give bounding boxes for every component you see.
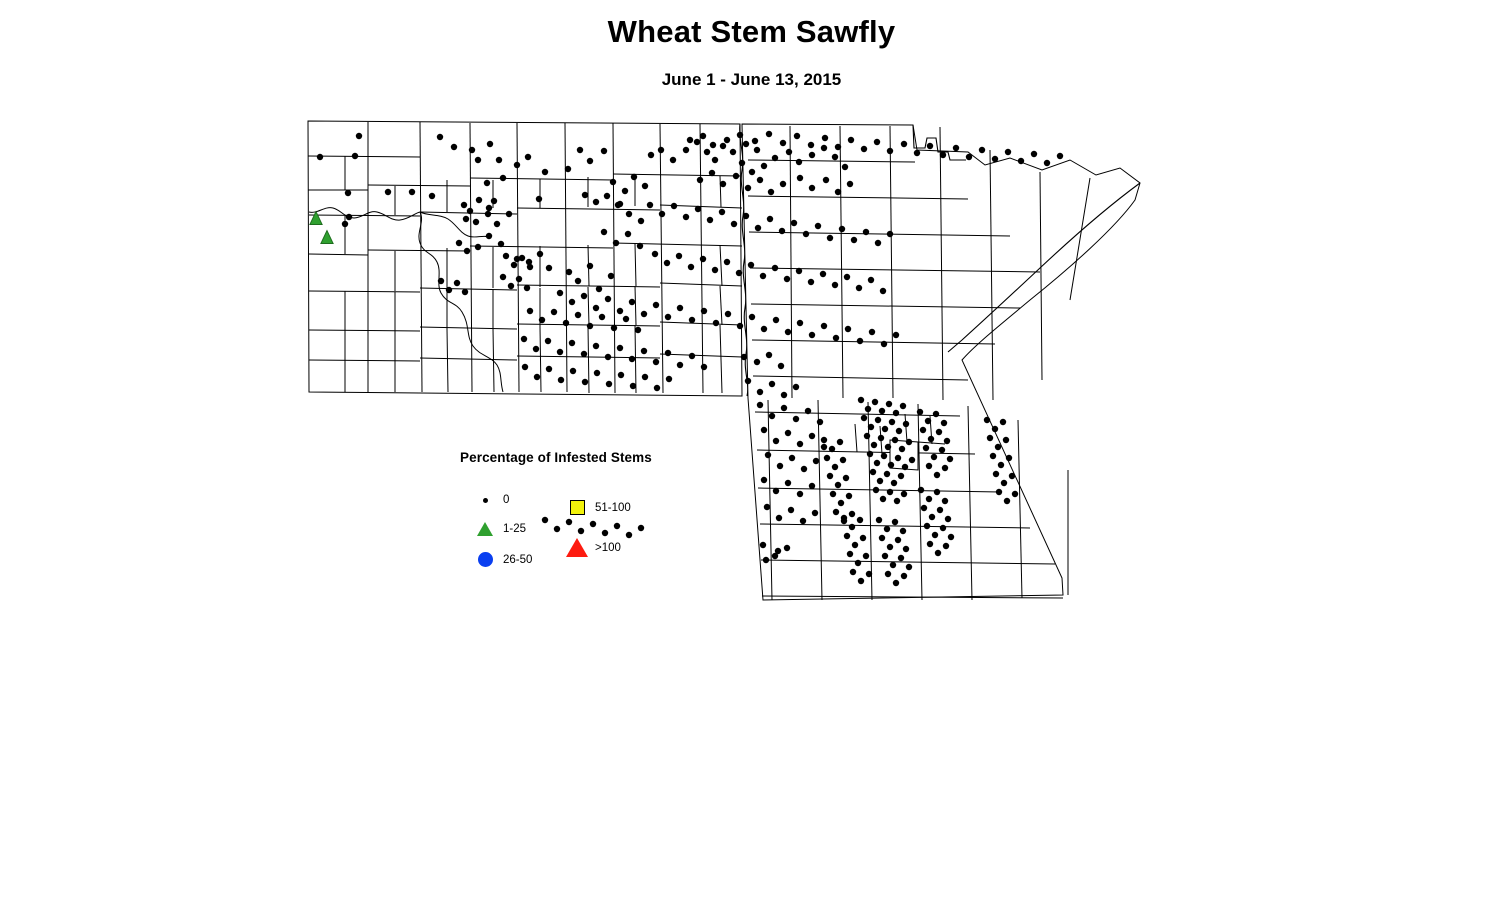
sample-point [683,147,689,153]
sample-point [871,442,877,448]
sample-point [944,438,950,444]
map-page: Wheat Stem Sawfly June 1 - June 13, 2015 [0,0,1503,900]
sample-point [898,555,904,561]
sample-point [942,465,948,471]
sample-point [886,401,892,407]
sample-point [925,418,931,424]
sample-point [1005,149,1011,155]
sample-point [861,146,867,152]
legend-title: Percentage of Infested Stems [460,450,652,465]
sample-point [720,143,726,149]
sample-point [992,156,998,162]
sample-point [754,359,760,365]
sample-point [587,263,593,269]
sample-point [860,535,866,541]
sample-point [893,580,899,586]
sample-point [654,385,660,391]
sample-point [926,463,932,469]
sample-point [824,455,830,461]
sample-point [1001,480,1007,486]
sample-point [868,424,874,430]
sample-point [773,438,779,444]
sample-point [903,421,909,427]
sample-point [797,491,803,497]
sample-point [625,231,631,237]
sample-point [665,314,671,320]
sample-point [622,188,628,194]
sample-point [485,211,491,217]
sample-point [896,428,902,434]
sample-point [527,308,533,314]
sample-point [867,451,873,457]
sample-point [1012,491,1018,497]
sample-point [863,553,869,559]
sample-point [486,205,492,211]
sample-point [545,338,551,344]
sample-point [901,573,907,579]
sample-point [902,464,908,470]
sample-point [927,143,933,149]
sample-point [934,489,940,495]
sample-point [940,152,946,158]
sample-point [772,155,778,161]
sample-point [901,491,907,497]
sample-point [700,133,706,139]
sample-point [743,141,749,147]
sample-point [720,181,726,187]
sample-point [847,181,853,187]
sample-point [1004,498,1010,504]
sample-point [514,162,520,168]
sample-point [945,516,951,522]
sample-point [943,543,949,549]
sample-point [773,317,779,323]
sample-point [947,456,953,462]
sample-point [666,376,672,382]
sample-point [689,353,695,359]
sample-point [494,221,500,227]
legend: Percentage of Infested Stems 0 1-25 26-5… [455,446,715,586]
sample-point [710,142,716,148]
sample-point [683,214,689,220]
sample-point [601,148,607,154]
sample-point [575,312,581,318]
sample-point [475,157,481,163]
sample-point [496,157,502,163]
sample-point [587,158,593,164]
sample-point [608,273,614,279]
sample-point [652,251,658,257]
sample-point [761,163,767,169]
sample-point [704,149,710,155]
sample-point [786,149,792,155]
sample-point [741,354,747,360]
sample-point [730,149,736,155]
sample-point [743,213,749,219]
sample-point [858,578,864,584]
sample-point [797,175,803,181]
legend-item-over-100: >100 [565,538,621,557]
sample-point [808,279,814,285]
sample-point [629,299,635,305]
sample-point [914,150,920,156]
sample-point [641,311,647,317]
sample-point [934,472,940,478]
sample-point [506,211,512,217]
sample-point [464,248,470,254]
sample-point [1006,455,1012,461]
sample-point [653,302,659,308]
sample-point [473,219,479,225]
sample-point [760,542,766,548]
sample-point [987,435,993,441]
sample-point [815,223,821,229]
sample-point [724,259,730,265]
sample-point [769,413,775,419]
sample-point [641,348,647,354]
sample-point [581,351,587,357]
sample-point [737,323,743,329]
sample-point [857,338,863,344]
sample-point [766,131,772,137]
sample-point [809,152,815,158]
sample-point [664,260,670,266]
sample-point [356,133,362,139]
sample-point [829,446,835,452]
sample-point [936,429,942,435]
sample-point [593,305,599,311]
sample-point [601,229,607,235]
sample-point [638,218,644,224]
sample-point [881,341,887,347]
sample-point [1018,158,1024,164]
sample-point [885,444,891,450]
legend-item-51-100: 51-100 [565,500,631,515]
sample-point [848,137,854,143]
sample-point [935,550,941,556]
legend-label-26-50: 26-50 [503,554,532,566]
sample-point [745,378,751,384]
sample-point [604,193,610,199]
sample-point [966,154,972,160]
sample-point [670,157,676,163]
sample-point [821,323,827,329]
sample-point [581,293,587,299]
legend-label-51-100: 51-100 [595,502,631,514]
sample-point [610,179,616,185]
sample-point [803,231,809,237]
sample-point [781,405,787,411]
sample-point [788,507,794,513]
red-triangle-icon [565,538,589,557]
sample-point [903,546,909,552]
sample-point [812,510,818,516]
sample-point [694,139,700,145]
sample-point [940,525,946,531]
sample-point [845,326,851,332]
sample-point [534,374,540,380]
sample-point [789,455,795,461]
sample-point [565,166,571,172]
sample-point [813,458,819,464]
sample-point [855,560,861,566]
sample-point [924,523,930,529]
sample-point [1003,437,1009,443]
sample-point [879,408,885,414]
sample-point [769,381,775,387]
sample-point [1044,160,1050,166]
sample-point [891,480,897,486]
sample-point [539,317,545,323]
sample-point [725,311,731,317]
sample-point [948,534,954,540]
sample-point [875,417,881,423]
sample-point [833,335,839,341]
sample-point [884,526,890,532]
sample-point [895,455,901,461]
sample-point [712,267,718,273]
sample-point [345,190,351,196]
sample-point [894,498,900,504]
sample-point [500,274,506,280]
sample-point [909,457,915,463]
sample-point [800,518,806,524]
sample-point [688,264,694,270]
legend-item-0: 0 [473,494,509,506]
sample-point [875,240,881,246]
sample-point [605,354,611,360]
sample-point [797,441,803,447]
sample-point [546,366,552,372]
sample-point [942,498,948,504]
sample-point [599,314,605,320]
sample-point [937,507,943,513]
sample-point [817,419,823,425]
sample-point [809,185,815,191]
sample-point [843,475,849,481]
sample-point [733,173,739,179]
nd-mn-county-map [0,0,1503,900]
sample-point [822,135,828,141]
sample-point [820,271,826,277]
sample-point [821,145,827,151]
sample-point [613,240,619,246]
sample-point [780,181,786,187]
sample-point [615,202,621,208]
sample-point [841,518,847,524]
sample-point [835,189,841,195]
sample-point [456,240,462,246]
sample-point [611,325,617,331]
sample-point [832,154,838,160]
sample-point [918,487,924,493]
sample-point [689,317,695,323]
sample-point [737,132,743,138]
sample-point [701,364,707,370]
sample-point [617,345,623,351]
sample-point [900,528,906,534]
small-black-dot-icon [473,498,497,503]
sample-point [840,457,846,463]
sample-point [755,225,761,231]
sample-point [631,174,637,180]
sample-point [767,216,773,222]
sample-point [508,283,514,289]
sample-point [864,433,870,439]
sample-point [637,243,643,249]
sample-point [821,444,827,450]
sample-point [451,144,457,150]
sample-point [900,403,906,409]
sample-point [352,153,358,159]
sample-point [809,483,815,489]
sample-point [784,276,790,282]
sample-point [700,256,706,262]
sample-point [695,206,701,212]
sample-point [939,447,945,453]
sample-point [821,437,827,443]
sample-point [797,320,803,326]
sample-point [873,487,879,493]
sample-point [1000,419,1006,425]
sample-point [849,524,855,530]
sample-point [868,277,874,283]
sample-point [920,427,926,433]
sample-point [462,289,468,295]
sample-point [752,138,758,144]
sample-point [757,389,763,395]
sample-point [542,169,548,175]
sample-point [582,379,588,385]
sample-point [773,488,779,494]
sample-point [317,154,323,160]
sample-point [713,320,719,326]
sample-point [491,198,497,204]
sample-point [779,228,785,234]
sample-point [793,416,799,422]
sample-point [653,359,659,365]
sample-point [761,477,767,483]
sample-point [606,381,612,387]
sample-point [932,532,938,538]
sample-point [979,147,985,153]
sample-point [768,189,774,195]
sample-point [385,189,391,195]
sample-point [454,280,460,286]
sample-point [446,287,452,293]
sample-point [525,154,531,160]
sample-point [463,216,469,222]
sample-point [569,340,575,346]
legend-label-1-25: 1-25 [503,523,526,535]
sample-point [992,426,998,432]
sample-point [665,350,671,356]
sample-point [850,569,856,575]
sample-point [484,180,490,186]
sample-point [659,211,665,217]
sample-point [701,308,707,314]
sample-point [557,349,563,355]
sample-point [785,430,791,436]
sample-point [647,202,653,208]
sample-point [766,352,772,358]
sample-point [793,384,799,390]
sample-point [736,270,742,276]
sample-point [757,177,763,183]
sample-point [618,372,624,378]
sample-point [467,208,473,214]
sample-point [830,491,836,497]
sample-point [835,482,841,488]
sample-point [429,193,435,199]
sample-point [575,278,581,284]
sample-point [998,462,1004,468]
sample-point [885,571,891,577]
sample-point [677,362,683,368]
sample-point [928,436,934,442]
sample-point [760,273,766,279]
sample-point [866,571,872,577]
sample-point [409,189,415,195]
sample-point [809,332,815,338]
sample-point [990,453,996,459]
sample-point [887,231,893,237]
sample-point [805,408,811,414]
sample-point [923,445,929,451]
sample-point [536,196,542,202]
sample-point [724,137,730,143]
sample-point [676,253,682,259]
sample-point [893,410,899,416]
sample-point [808,142,814,148]
sample-point [761,427,767,433]
sample-point [557,290,563,296]
sample-point [858,397,864,403]
sample-point [835,144,841,150]
sample-point [995,444,1001,450]
sample-point [780,140,786,146]
sample-point [566,269,572,275]
sample-point [605,296,611,302]
sample-point [776,515,782,521]
sample-point [857,517,863,523]
sample-point [570,368,576,374]
sample-point [809,433,815,439]
sample-point [852,542,858,548]
sample-point [437,134,443,140]
legend-label-over-100: >100 [595,542,621,554]
sample-point [865,406,871,412]
sample-point [772,265,778,271]
sample-point [881,453,887,459]
sample-point [876,517,882,523]
sample-point [838,500,844,506]
sample-point [461,202,467,208]
sample-point [878,435,884,441]
sample-point [596,286,602,292]
sample-point [739,160,745,166]
sample-point [906,439,912,445]
sample-point [731,221,737,227]
sample-point [546,265,552,271]
sample-point [476,197,482,203]
sample-point [996,489,1002,495]
sample-point [558,377,564,383]
sample-point [874,460,880,466]
sample-point [870,469,876,475]
sample-point [933,411,939,417]
sample-point [953,145,959,151]
